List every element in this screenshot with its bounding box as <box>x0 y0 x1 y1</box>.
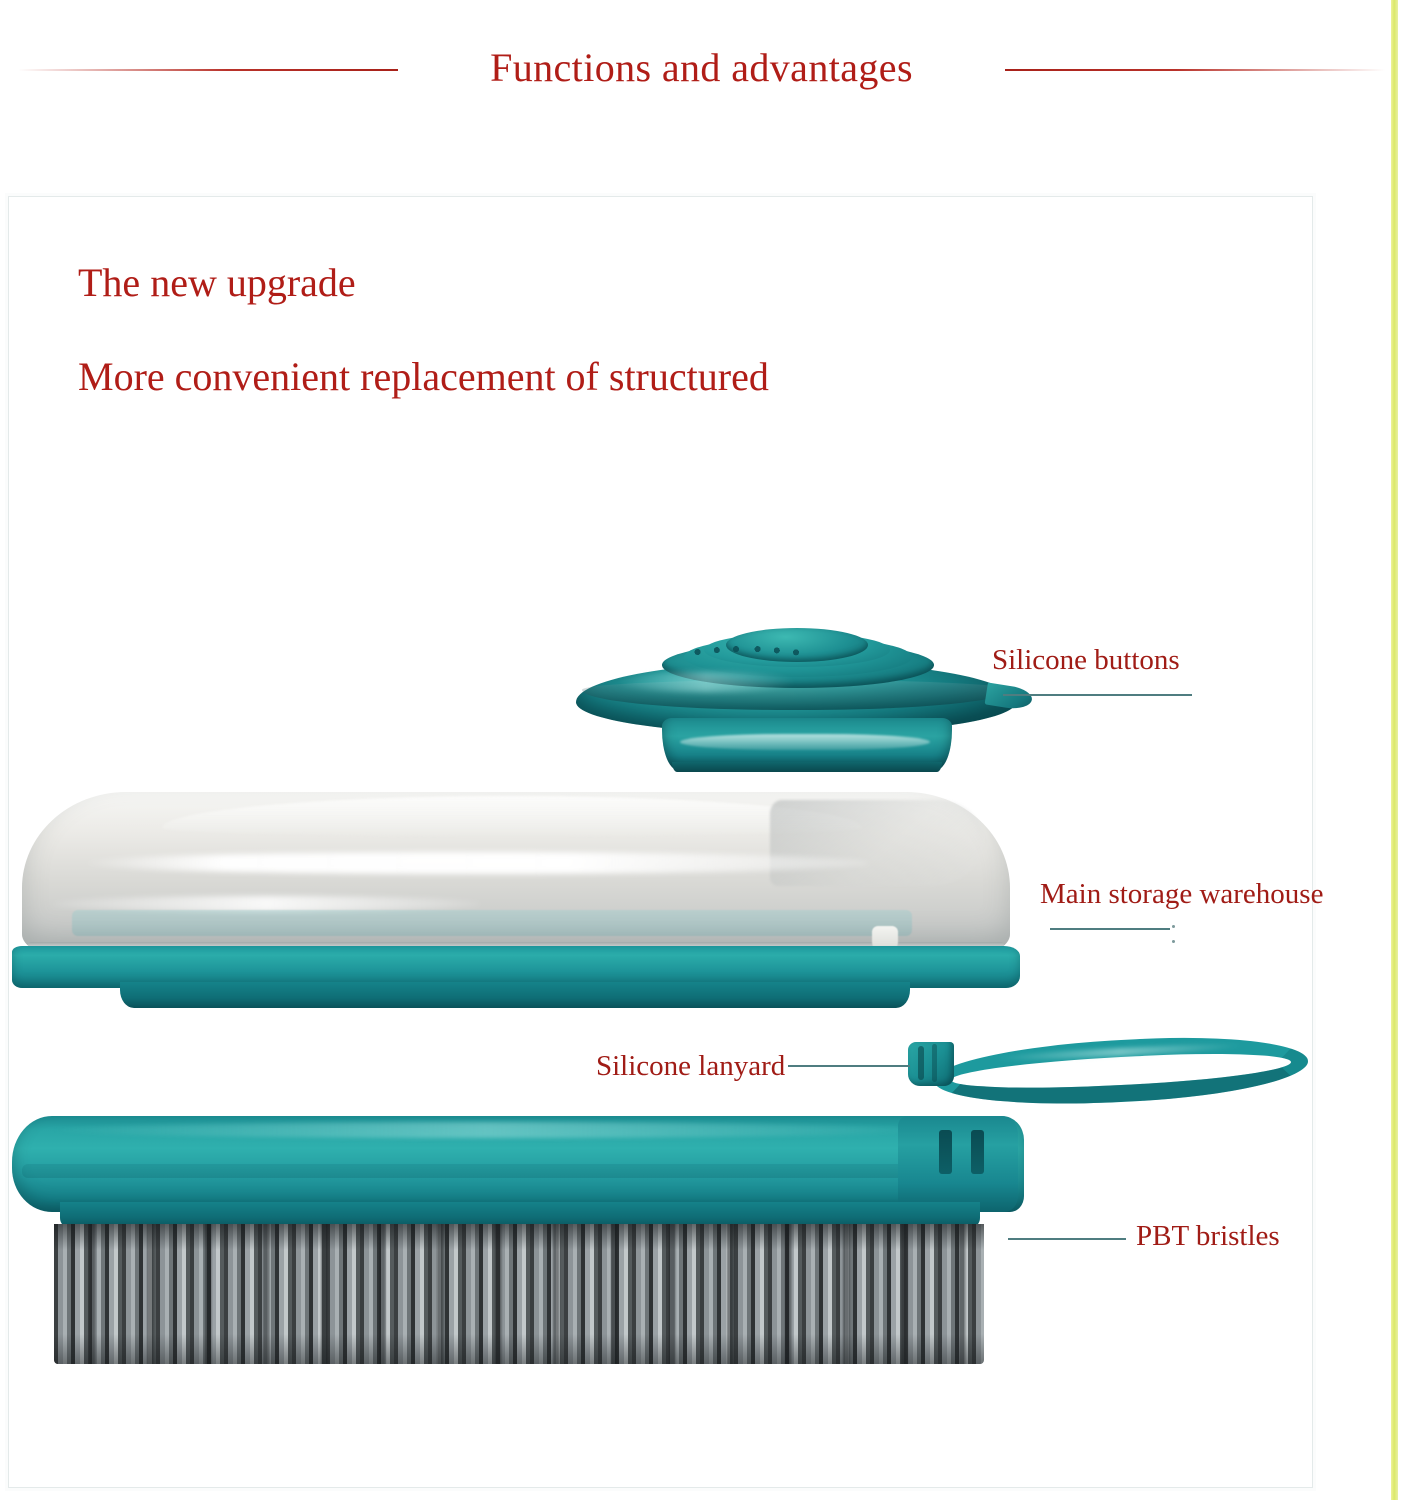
tray-under-foot <box>120 982 910 1008</box>
callout-dot-lower <box>1172 940 1175 943</box>
intro-subheading: More convenient replacement of structure… <box>78 356 1078 398</box>
callout-label-pbt-bristles: PBT bristles <box>1136 1222 1280 1251</box>
callout-label-silicone-buttons: Silicone buttons <box>992 646 1180 675</box>
brush-top-highlight <box>48 1122 928 1138</box>
callout-leader-pbt-bristles <box>1008 1238 1126 1240</box>
cap-gloss-highlight <box>616 672 796 692</box>
brush-latch-slot-2 <box>971 1130 984 1174</box>
infographic-page: Functions and advantages The new upgrade… <box>0 0 1403 1500</box>
brush-side-band <box>22 1164 1014 1178</box>
bristle-top-shadow <box>54 1224 984 1250</box>
header: Functions and advantages <box>0 26 1403 106</box>
edge-accent-gap <box>1388 0 1391 1500</box>
silicone-button-cap <box>576 634 1016 774</box>
intro-heading: The new upgrade <box>78 262 1078 304</box>
lanyard-connector-head <box>908 1042 954 1086</box>
cap-collar-highlight-band <box>680 734 930 750</box>
cap-collar-foot <box>672 762 942 772</box>
callout-label-silicone-lanyard: Silicone lanyard <box>596 1052 785 1081</box>
brush-head <box>12 1116 1024 1366</box>
dome-primary-highlight <box>80 852 870 874</box>
lanyard-head-groove-1 <box>918 1046 924 1080</box>
bristle-bottom-shadow <box>54 1334 984 1364</box>
silicone-lanyard-loop <box>904 1036 1308 1112</box>
callout-label-main-storage-warehouse: Main storage warehouse <box>1040 880 1323 909</box>
lanyard-strap-shading <box>934 1030 1308 1112</box>
edge-accent-stripe <box>1391 0 1398 1500</box>
dome-rear-notch <box>770 800 984 886</box>
brush-latch-block <box>898 1116 1018 1212</box>
intro-block: The new upgrade More convenient replacem… <box>78 262 1078 398</box>
lanyard-head-groove-2 <box>932 1044 937 1082</box>
main-storage-assembly <box>12 792 1020 1010</box>
brush-latch-slot-1 <box>939 1130 952 1174</box>
callout-leader-silicone-buttons <box>1003 694 1192 696</box>
pbt-bristle-field <box>54 1224 984 1364</box>
callout-leader-main-storage-warehouse <box>1050 928 1170 930</box>
dome-inner-shelf <box>72 910 912 936</box>
callout-dot-upper <box>1172 925 1175 928</box>
cap-perforation-holes <box>688 644 808 660</box>
callout-leader-silicone-lanyard <box>788 1065 910 1067</box>
page-title: Functions and advantages <box>0 26 1403 110</box>
